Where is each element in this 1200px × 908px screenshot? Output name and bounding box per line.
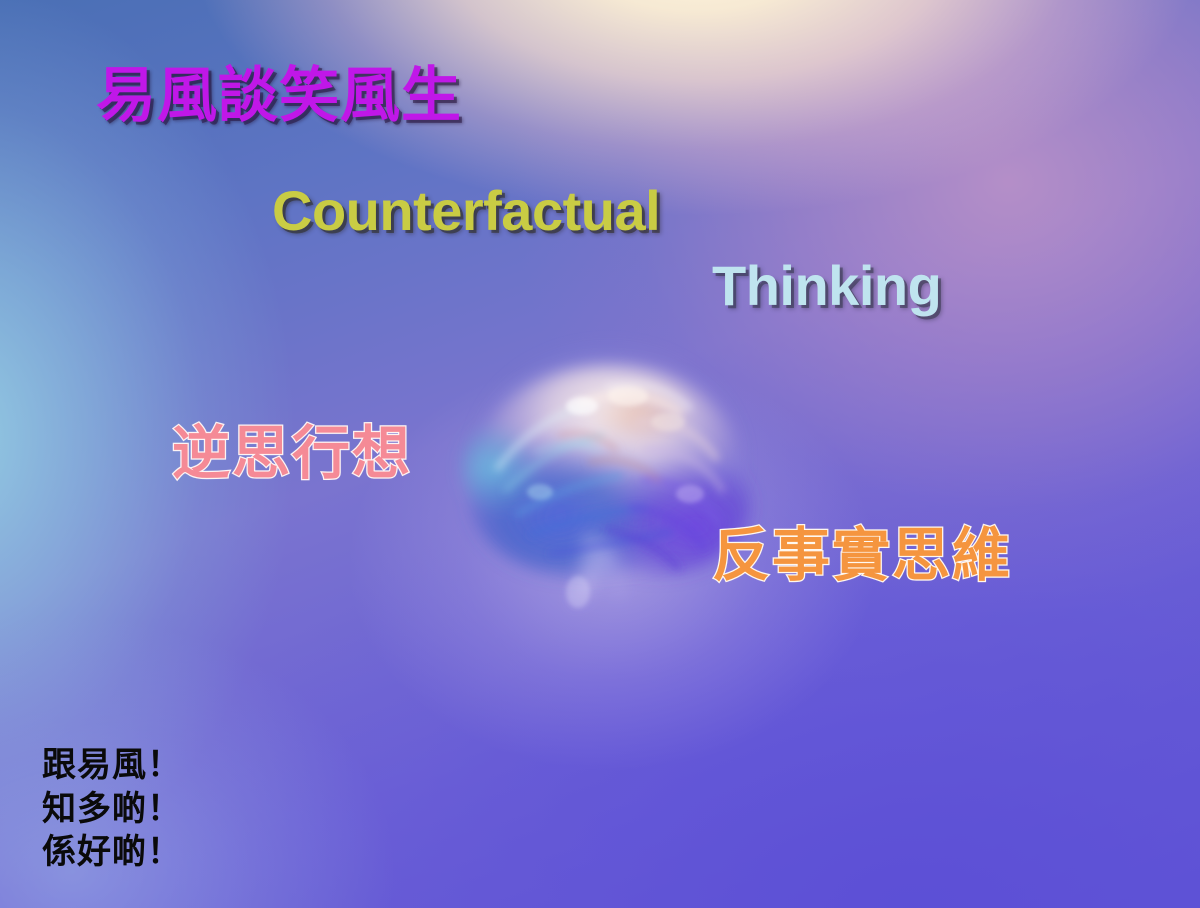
brain-illustration (432, 318, 784, 638)
brain-icon (432, 318, 784, 638)
phrase-counterfactual-chinese: 反事實思維 (712, 526, 1012, 584)
tagline-line-3: 係好啲！ (42, 831, 182, 875)
tagline-block: 跟易風！ 知多啲！ 係好啲！ (42, 744, 182, 875)
brain-halo-glow (432, 318, 784, 638)
tagline-line-1: 跟易風！ (42, 744, 182, 788)
tagline-line-2: 知多啲！ (42, 788, 182, 832)
slide-canvas: 易風談笑風生 Counterfactual Thinking 逆思行想 反事實思… (0, 0, 1200, 908)
headline-word-thinking: Thinking (712, 258, 941, 314)
page-title: 易風談笑風生 (96, 66, 462, 126)
headline-word-counterfactual: Counterfactual (272, 183, 660, 239)
phrase-reverse-thinking: 逆思行想 (172, 424, 412, 482)
